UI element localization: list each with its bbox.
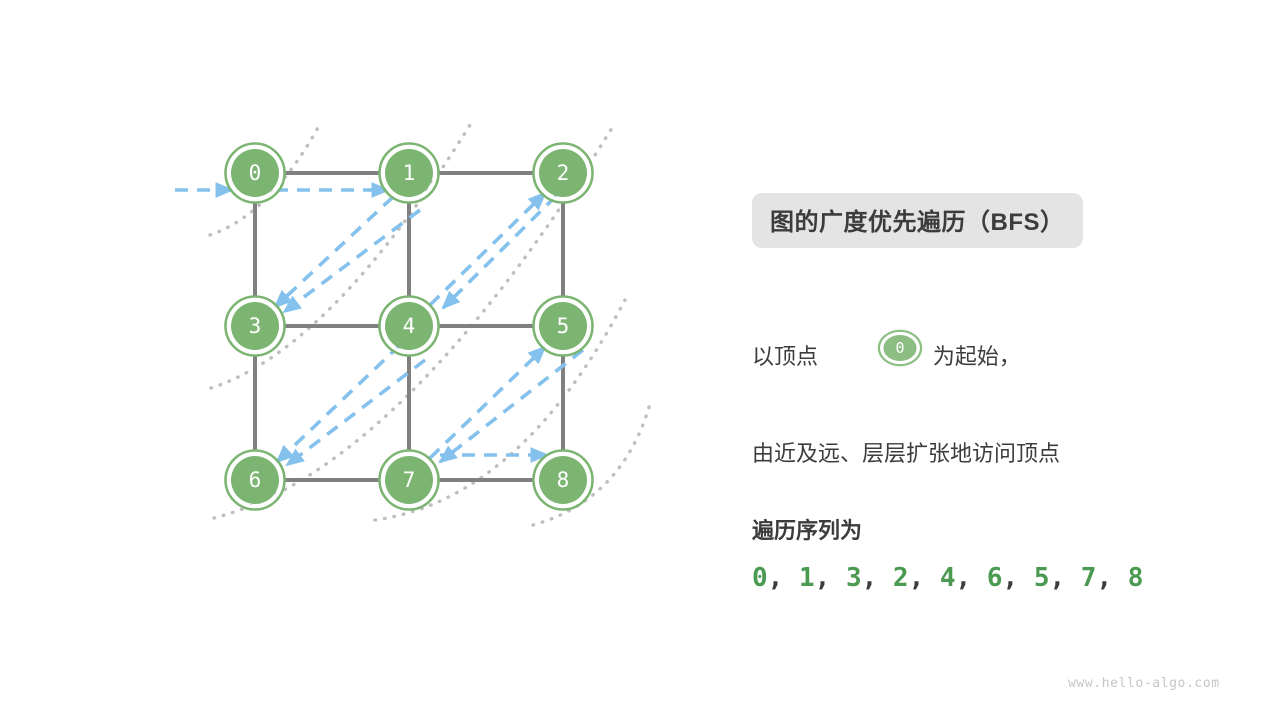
sequence-separator: ,: [1003, 563, 1034, 593]
sequence-separator: ,: [956, 563, 987, 593]
sequence-item: 5: [1034, 563, 1050, 593]
description-block: 以顶点 0 为起始， 由近及远、层层扩张地访问顶点: [752, 282, 1182, 477]
description-line-1: 以顶点 0 为起始，: [752, 282, 1182, 430]
graph-node-label: 4: [403, 314, 416, 338]
graph-node-label: 5: [557, 314, 570, 338]
sequence-item: 6: [987, 563, 1003, 593]
info-panel: 图的广度优先遍历（BFS） 以顶点 0 为起始， 由近及远、层层扩张地访问顶点 …: [752, 193, 1182, 593]
graph-node-5[interactable]: 5: [534, 297, 593, 356]
sequence-item: 7: [1081, 563, 1097, 593]
sequence-item: 8: [1128, 563, 1144, 593]
sequence-item: 1: [799, 563, 815, 593]
bfs-arrow-4-6: [287, 360, 425, 465]
graph-node-4[interactable]: 4: [380, 297, 439, 356]
sequence-separator: ,: [1096, 563, 1127, 593]
bfs-arrow-1-3: [275, 197, 393, 307]
sequence-separator: ,: [1049, 563, 1080, 593]
watermark: www.hello-algo.com: [1068, 676, 1220, 691]
sequence-separator: ,: [815, 563, 846, 593]
bfs-arrow-1-4: [443, 196, 556, 308]
graph-node-label: 6: [249, 468, 262, 492]
figure-title: 图的广度优先遍历（BFS）: [752, 193, 1083, 248]
graph-node-0[interactable]: 0: [226, 144, 285, 203]
sequence-heading: 遍历序列为: [752, 513, 1182, 545]
start-vertex-label: 0: [895, 339, 904, 357]
graph-node-label: 8: [557, 468, 570, 492]
graph-node-label: 3: [249, 314, 262, 338]
graph-node-8[interactable]: 8: [534, 451, 593, 510]
description-line-2: 由近及远、层层扩张地访问顶点: [752, 430, 1182, 477]
description-text-suffix: 为起始，: [933, 333, 1021, 380]
graph-node-label: 7: [403, 468, 416, 492]
graph-node-2[interactable]: 2: [534, 144, 593, 203]
sequence-separator: ,: [909, 563, 940, 593]
sequence-item: 3: [846, 563, 862, 593]
graph-node-6[interactable]: 6: [226, 451, 285, 510]
sequence-item: 4: [940, 563, 956, 593]
sequence-separator: ,: [862, 563, 893, 593]
sequence-item: 2: [893, 563, 909, 593]
bfs-arrow-4-5: [430, 347, 545, 458]
bfs-arrow-3-6: [277, 345, 400, 462]
graph-node-7[interactable]: 7: [380, 451, 439, 510]
graph-node-label: 0: [249, 161, 262, 185]
graph-node-label: 1: [403, 161, 416, 185]
traversal-sequence: 0, 1, 3, 2, 4, 6, 5, 7, 8: [752, 563, 1182, 593]
sequence-separator: ,: [768, 563, 799, 593]
description-text-prefix: 以顶点: [752, 333, 818, 380]
graph-node-label: 2: [557, 161, 570, 185]
bfs-arrow-1-2: [430, 193, 545, 305]
start-vertex-chip: 0: [828, 282, 923, 430]
graph-node-3[interactable]: 3: [226, 297, 285, 356]
sequence-item: 0: [752, 563, 768, 593]
graph-node-1[interactable]: 1: [380, 144, 439, 203]
